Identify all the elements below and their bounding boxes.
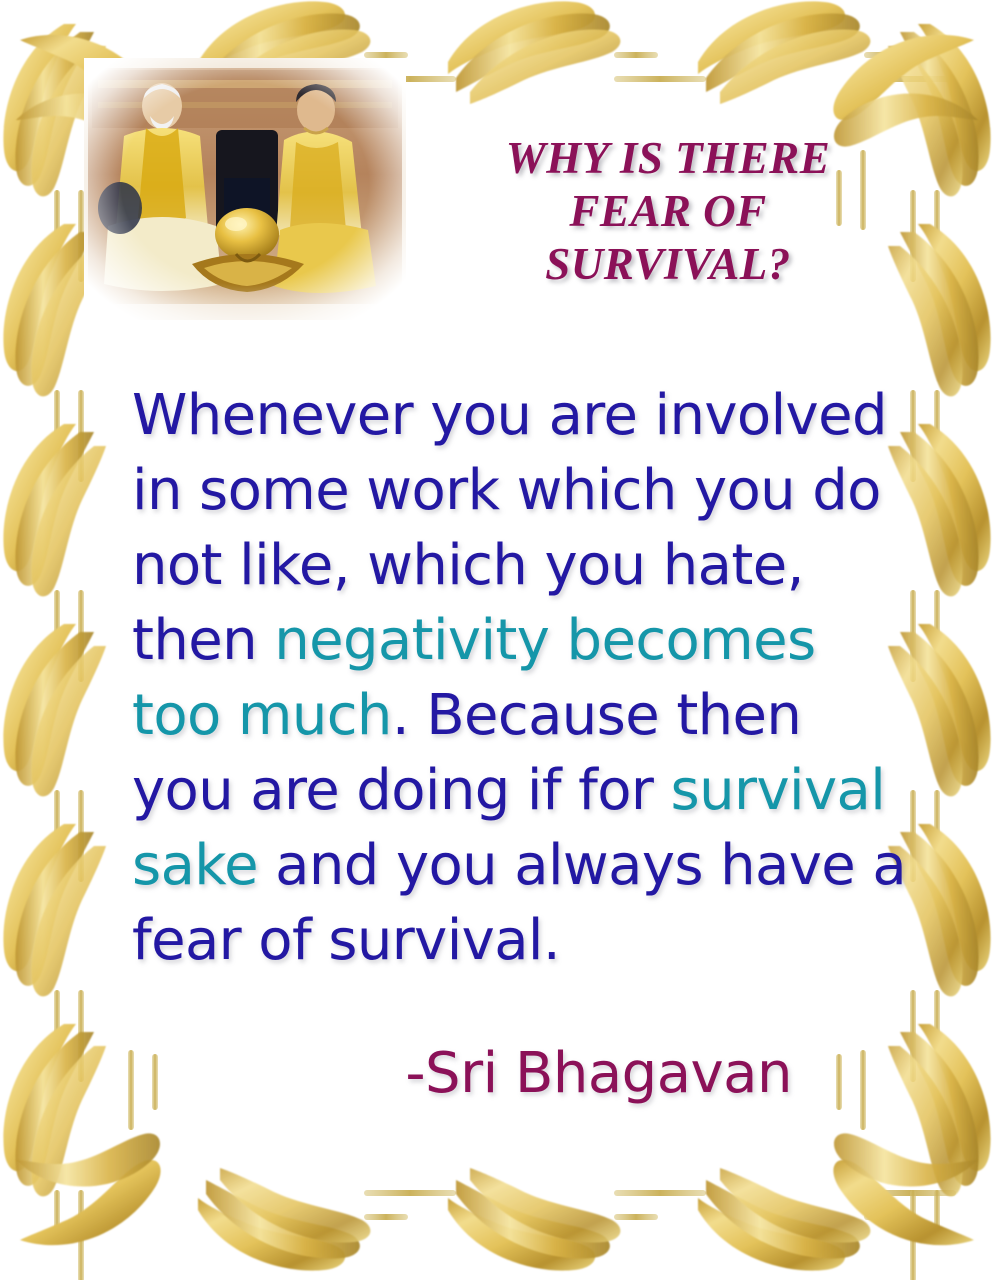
title-line-1: WHY IS THERE (418, 132, 918, 185)
title-line-2: FEAR OF (418, 185, 918, 238)
quote-run: and you always have a (258, 833, 906, 898)
page-title: WHY IS THERE FEAR OF SURVIVAL? (418, 132, 918, 291)
quote-highlight-run: negativity becomes (274, 608, 815, 673)
quote-run: not like, which you hate, (132, 533, 804, 598)
quote-line-7: sake and you always have a (132, 828, 922, 903)
quote-text: Whenever you are involvedin some work wh… (132, 378, 922, 978)
quote-line-2: in some work which you do (132, 453, 922, 528)
quote-run: fear of survival. (132, 908, 560, 973)
quote-line-3: not like, which you hate, (132, 528, 922, 603)
quote-run: Whenever you are involved (132, 383, 887, 448)
quote-line-8: fear of survival. (132, 903, 922, 978)
quote-line-4: then negativity becomes (132, 603, 922, 678)
quote-line-6: you are doing if for survival (132, 753, 922, 828)
quote-card: WHY IS THERE FEAR OF SURVIVAL? Whenever … (0, 0, 994, 1280)
quote-run: in some work which you do (132, 458, 881, 523)
avatar (84, 58, 406, 320)
title-line-3: SURVIVAL? (418, 238, 918, 291)
quote-highlight-run: sake (132, 833, 258, 898)
quote-run: then (132, 608, 274, 673)
quote-highlight-run: survival (671, 758, 886, 823)
quote-attribution: -Sri Bhagavan (132, 1043, 792, 1105)
quote-run: you are doing if for (132, 758, 671, 823)
quote-line-5: too much. Because then (132, 678, 922, 753)
quote-highlight-run: too much (132, 683, 392, 748)
quote-run: . Because then (392, 683, 802, 748)
sri-bhagavan-photo (84, 58, 406, 320)
bottom-border-ornaments (198, 1168, 956, 1271)
corner-flourish-bottom-right (833, 1050, 978, 1245)
quote-line-1: Whenever you are involved (132, 378, 922, 453)
